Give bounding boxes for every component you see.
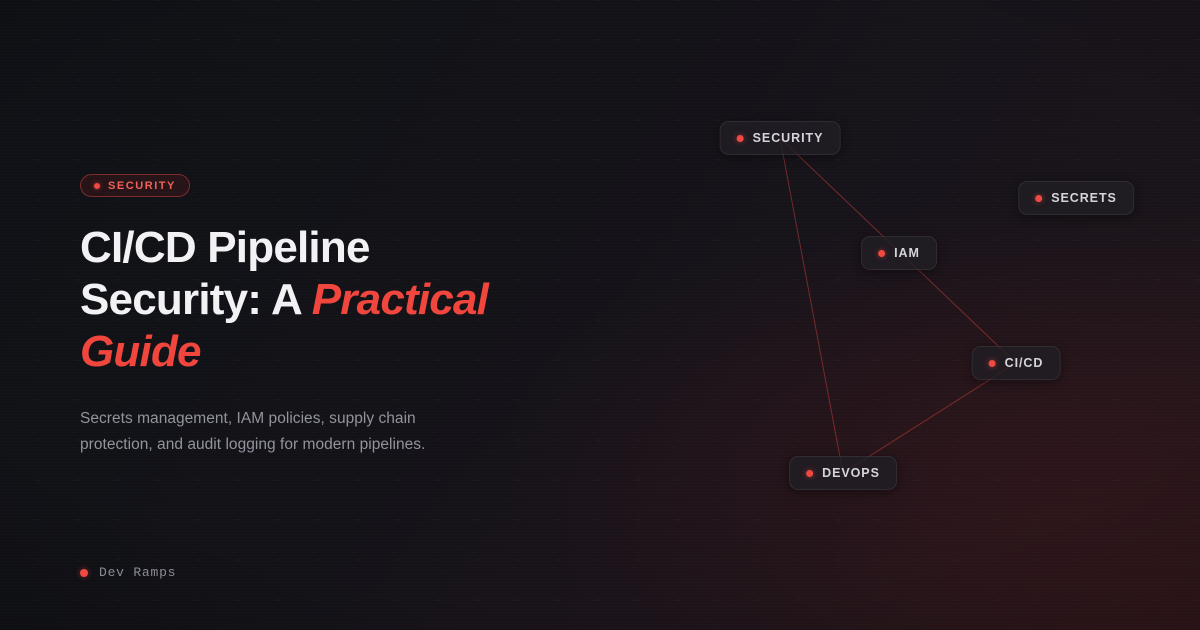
node-dot-icon bbox=[806, 470, 813, 477]
page-subtitle: Secrets management, IAM policies, supply… bbox=[80, 406, 480, 458]
graph-node-label: SECRETS bbox=[1051, 191, 1117, 205]
title-line-2-plain: Security: A bbox=[80, 275, 312, 324]
hero-canvas: SECURITYSECRETSIAMCI/CDDEVOPS SECURITY C… bbox=[0, 0, 1200, 630]
node-dot-icon bbox=[1035, 195, 1042, 202]
node-dot-icon bbox=[989, 360, 996, 367]
title-line-2-accent: Practical bbox=[312, 275, 488, 324]
status-dot-icon bbox=[94, 183, 100, 189]
node-dot-icon bbox=[737, 135, 744, 142]
page-title: CI/CD Pipeline Security: A Practical Gui… bbox=[80, 222, 640, 378]
category-badge-label: SECURITY bbox=[108, 180, 176, 192]
category-badge[interactable]: SECURITY bbox=[80, 174, 190, 197]
graph-node-label: SECURITY bbox=[753, 131, 824, 145]
graph-node-label: IAM bbox=[894, 246, 920, 260]
brand-name: Dev Ramps bbox=[99, 565, 176, 580]
brand-footer: Dev Ramps bbox=[80, 565, 176, 580]
graph-node-label: DEVOPS bbox=[822, 466, 880, 480]
node-dot-icon bbox=[878, 250, 885, 257]
graph-node-iam[interactable]: IAM bbox=[861, 236, 937, 270]
title-line-1: CI/CD Pipeline bbox=[80, 223, 370, 272]
graph-node-security[interactable]: SECURITY bbox=[720, 121, 841, 155]
title-line-3-accent: Guide bbox=[80, 327, 201, 376]
graph-node-secrets[interactable]: SECRETS bbox=[1018, 181, 1134, 215]
graph-node-devops[interactable]: DEVOPS bbox=[789, 456, 897, 490]
graph-node-label: CI/CD bbox=[1005, 356, 1044, 370]
graph-node-cicd[interactable]: CI/CD bbox=[972, 346, 1061, 380]
graph-edge-security-to-devops bbox=[780, 138, 843, 473]
brand-dot-icon bbox=[80, 569, 88, 577]
hero-content: SECURITY CI/CD Pipeline Security: A Prac… bbox=[80, 0, 680, 630]
